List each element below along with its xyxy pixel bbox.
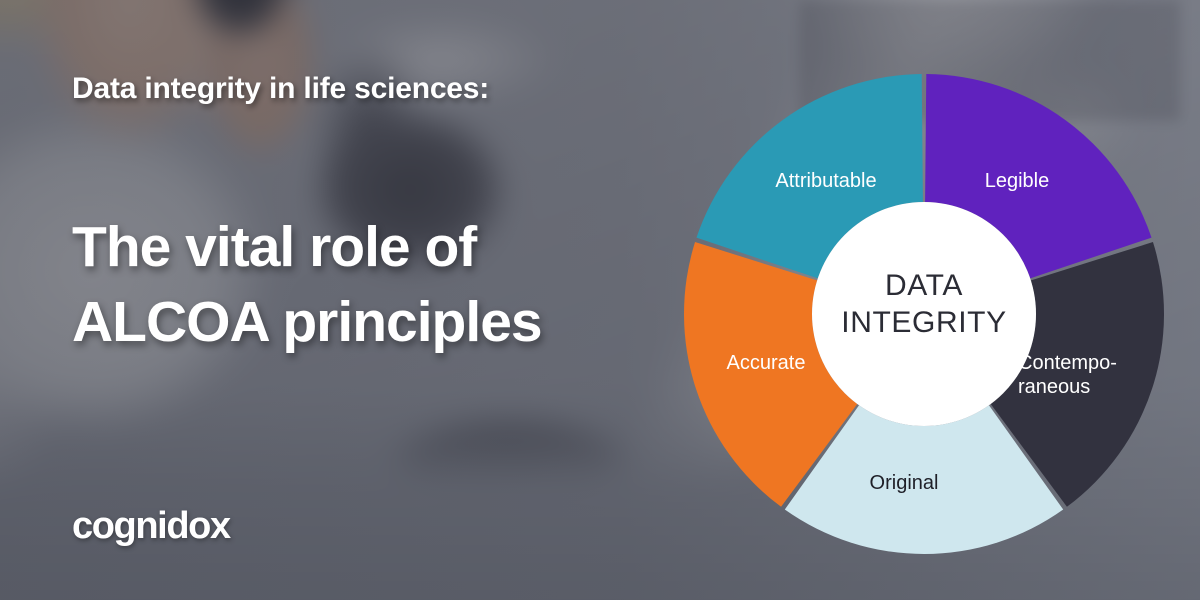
copy-block: Data integrity in life sciences: The vit… bbox=[72, 0, 692, 600]
marketing-banner: Data integrity in life sciences: The vit… bbox=[0, 0, 1200, 600]
alcoa-donut-chart: Legible Contempo- raneous Original Accur… bbox=[684, 73, 1164, 555]
donut-center-label: DATA INTEGRITY bbox=[812, 268, 1036, 341]
page-title: The vital role of ALCOA principles bbox=[72, 210, 542, 360]
eyebrow-text: Data integrity in life sciences: bbox=[72, 72, 489, 106]
cognidox-logo: cognidox bbox=[72, 505, 230, 548]
